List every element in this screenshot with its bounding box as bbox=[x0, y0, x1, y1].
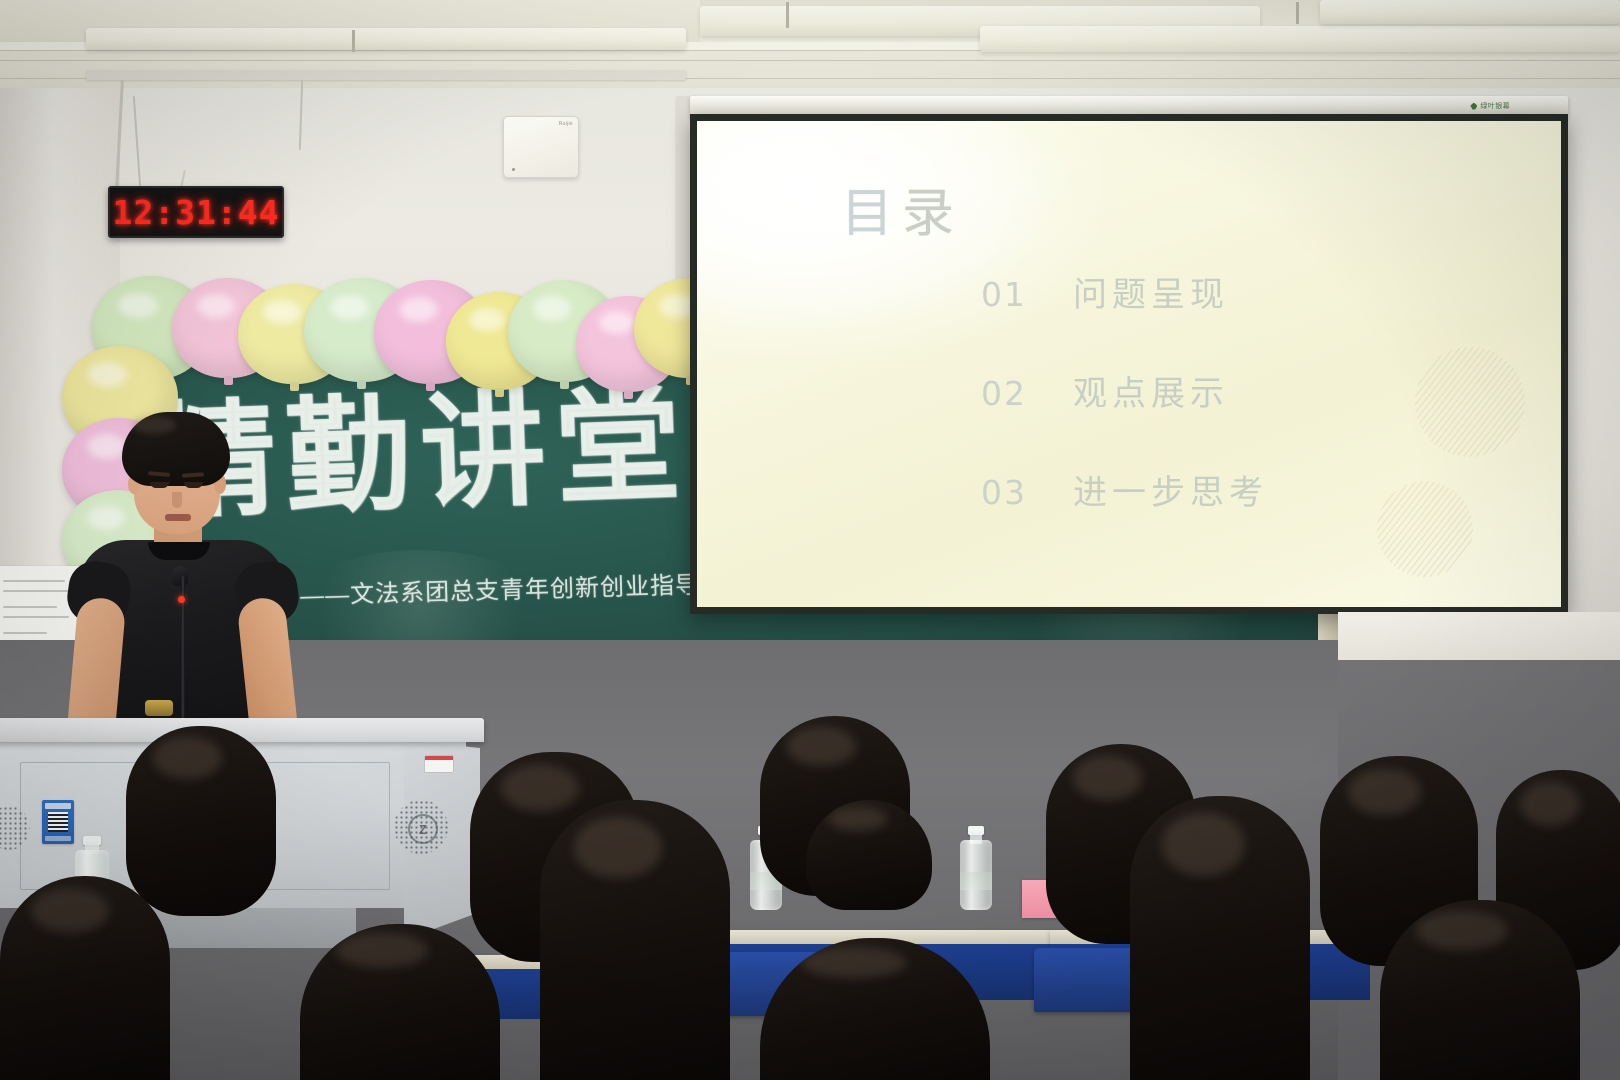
junction-box-logo: Ruijie bbox=[559, 121, 573, 127]
audience-hair-highlight bbox=[336, 933, 428, 967]
audience-head bbox=[540, 800, 730, 1080]
slide-agenda-label: 观点展示 bbox=[1073, 366, 1229, 415]
audience-head bbox=[300, 924, 500, 1080]
junction-box-led bbox=[512, 168, 515, 171]
slide-title-char-1: 目 bbox=[841, 185, 902, 243]
audience-hair-highlight bbox=[1348, 769, 1421, 815]
slide-agenda-item: 01问题呈现 bbox=[981, 267, 1401, 316]
presenter-mouth bbox=[165, 514, 191, 521]
podium-qr-sticker[interactable] bbox=[42, 800, 74, 844]
audience-hair-highlight bbox=[153, 737, 222, 779]
audience-head bbox=[760, 938, 990, 1080]
presenter-hair bbox=[122, 412, 230, 486]
screen-brand-label: 绿叶银幕 bbox=[1470, 101, 1510, 111]
balloon-knot bbox=[495, 388, 504, 397]
leaf-icon bbox=[1470, 103, 1477, 110]
audience-hair-highlight bbox=[574, 817, 661, 879]
slide-agenda-item: 03进一步思考 bbox=[981, 465, 1401, 514]
ceiling-hanger bbox=[786, 2, 789, 28]
balloon-knot bbox=[357, 380, 366, 389]
slide-agenda-list: 01问题呈现02观点展示03进一步思考 bbox=[981, 267, 1401, 564]
led-clock: 12:31:44 bbox=[108, 186, 284, 238]
audience-hair-highlight bbox=[1073, 756, 1142, 800]
balloon-knot bbox=[624, 390, 633, 399]
qr-sticker-header bbox=[45, 803, 71, 809]
screen-brand-text: 绿叶银幕 bbox=[1480, 101, 1510, 111]
podium-asset-tag bbox=[425, 756, 453, 772]
ceiling-seam bbox=[0, 60, 1620, 61]
audience-hair-highlight bbox=[801, 947, 907, 978]
audience-head bbox=[806, 800, 932, 910]
balloon-knot bbox=[426, 382, 435, 391]
presenter-nose bbox=[172, 492, 182, 508]
audience-hair-highlight bbox=[1520, 782, 1581, 826]
audience-hair-highlight bbox=[787, 727, 856, 767]
podium-speaker-logo: Z bbox=[408, 814, 438, 844]
slide-title: 目录 bbox=[841, 171, 963, 246]
qr-sticker-footer bbox=[45, 836, 71, 841]
ceiling-light-tube bbox=[86, 28, 686, 50]
audience-head bbox=[0, 876, 170, 1080]
audience-head bbox=[1130, 796, 1310, 1080]
audience-hair-highlight bbox=[1416, 911, 1508, 951]
presenter-person bbox=[60, 412, 320, 742]
slide-agenda-number: 01 bbox=[981, 275, 1073, 314]
wall-white-strip bbox=[1338, 612, 1620, 664]
ceiling-light-tube bbox=[1320, 0, 1620, 24]
audience-hair-highlight bbox=[829, 807, 887, 831]
ceiling-light-tube bbox=[980, 26, 1620, 52]
microphone-led-icon bbox=[178, 596, 185, 603]
audience-hair-highlight bbox=[31, 888, 109, 933]
audience-head bbox=[1380, 900, 1580, 1080]
ceiling-hanger bbox=[352, 30, 355, 52]
bottle-body bbox=[960, 840, 992, 910]
ceiling-hanger bbox=[1296, 2, 1299, 24]
slide-agenda-item: 02观点展示 bbox=[981, 366, 1401, 415]
water-bottle bbox=[960, 826, 992, 910]
audience-hair-highlight bbox=[1162, 813, 1245, 875]
balloon-knot bbox=[290, 382, 299, 391]
classroom-presentation-photo: Ruijie 12:31:44 精勤讲堂 ——文法系团总支青年创新创业指导部 绿… bbox=[0, 0, 1620, 1080]
presenter-collar bbox=[148, 542, 210, 560]
slide-agenda-label: 进一步思考 bbox=[1073, 465, 1268, 514]
presenter-eye-right bbox=[184, 482, 203, 488]
slide-agenda-number: 02 bbox=[981, 374, 1073, 413]
microphone-base bbox=[145, 700, 173, 716]
wall-conduit bbox=[86, 70, 686, 80]
slide-title-char-2: 录 bbox=[902, 185, 963, 243]
wall-junction-box: Ruijie bbox=[503, 116, 579, 178]
balloon-knot bbox=[560, 380, 569, 389]
microphone-head bbox=[172, 566, 188, 586]
slide-agenda-number: 03 bbox=[981, 473, 1073, 512]
slide-surface: 目录 01问题呈现02观点展示03进一步思考 bbox=[697, 121, 1561, 607]
clock-time: 12:31:44 bbox=[113, 193, 280, 232]
presenter-eye-left bbox=[150, 482, 169, 488]
bottle-label bbox=[960, 872, 992, 890]
qr-code-icon bbox=[48, 812, 68, 832]
slide-agenda-label: 问题呈现 bbox=[1073, 267, 1229, 316]
slide-decoration-circle bbox=[1415, 347, 1525, 457]
balloon-knot bbox=[224, 376, 233, 385]
projector-screen-frame: 目录 01问题呈现02观点展示03进一步思考 bbox=[690, 114, 1568, 614]
